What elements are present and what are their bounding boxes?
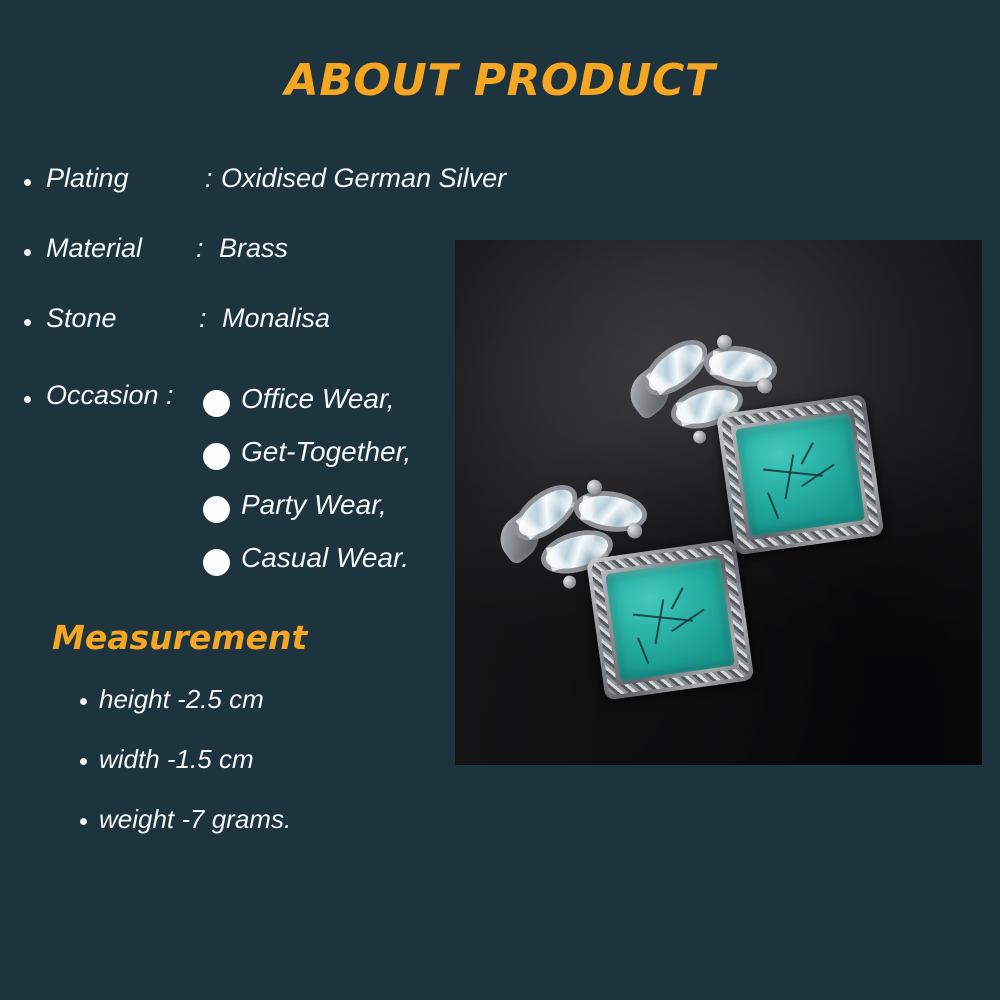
bullet-icon [80,698,87,705]
spec-value: Oxidised German Silver [221,163,506,194]
product-photo [455,240,982,765]
measurement-item-label: height -2.5 cm [99,684,264,715]
bullet-icon [24,179,31,186]
stone-vein [671,609,705,633]
stone-vein [767,492,779,519]
bullet-icon [24,249,31,256]
occasion-label: Occasion : [46,380,174,411]
stone-vein [655,600,665,645]
spec-separator: : [196,233,204,264]
spec-separator: : [199,303,207,334]
measurement-list: height -2.5 cm width -1.5 cm weight -7 g… [0,684,450,864]
stone-vein [671,587,684,609]
silver-bead [562,575,577,590]
spec-label: Stone [46,303,117,334]
spec-value: Brass [219,233,288,264]
circle-bullet-icon [203,549,230,576]
turquoise-bezel [716,394,884,555]
silver-bead [692,430,707,445]
stone-vein [801,464,835,488]
circle-bullet-icon [203,390,230,417]
spec-separator: : [205,163,213,194]
page-title: ABOUT PRODUCT [0,55,1000,106]
measurement-item-height: height -2.5 cm [0,684,450,744]
bullet-icon [24,396,31,403]
occasion-item-label: Office Wear, [241,383,395,415]
bullet-icon [80,818,87,825]
measurement-item-weight: weight -7 grams. [0,804,450,864]
occasion-item-label: Get-Together, [241,436,411,468]
bullet-icon [24,319,31,326]
measurement-item-label: width -1.5 cm [99,744,254,775]
measurement-item-width: width -1.5 cm [0,744,450,804]
spec-value: Monalisa [222,303,330,334]
measurement-heading: Measurement [52,618,307,657]
measurement-item-label: weight -7 grams. [99,804,291,835]
stone-vein [801,442,814,464]
spec-row-plating: Plating : Oxidised German Silver [0,163,620,233]
stone-vein [637,637,649,664]
spec-label: Material [46,233,142,264]
turquoise-stone [605,558,735,681]
bullet-icon [80,758,87,765]
turquoise-bezel [586,539,754,700]
circle-bullet-icon [203,496,230,523]
spec-label: Plating [46,163,129,194]
circle-bullet-icon [203,443,230,470]
occasion-item-label: Party Wear, [241,489,387,521]
stone-vein [785,455,795,500]
occasion-item-label: Casual Wear. [241,542,409,574]
turquoise-stone [735,413,865,536]
